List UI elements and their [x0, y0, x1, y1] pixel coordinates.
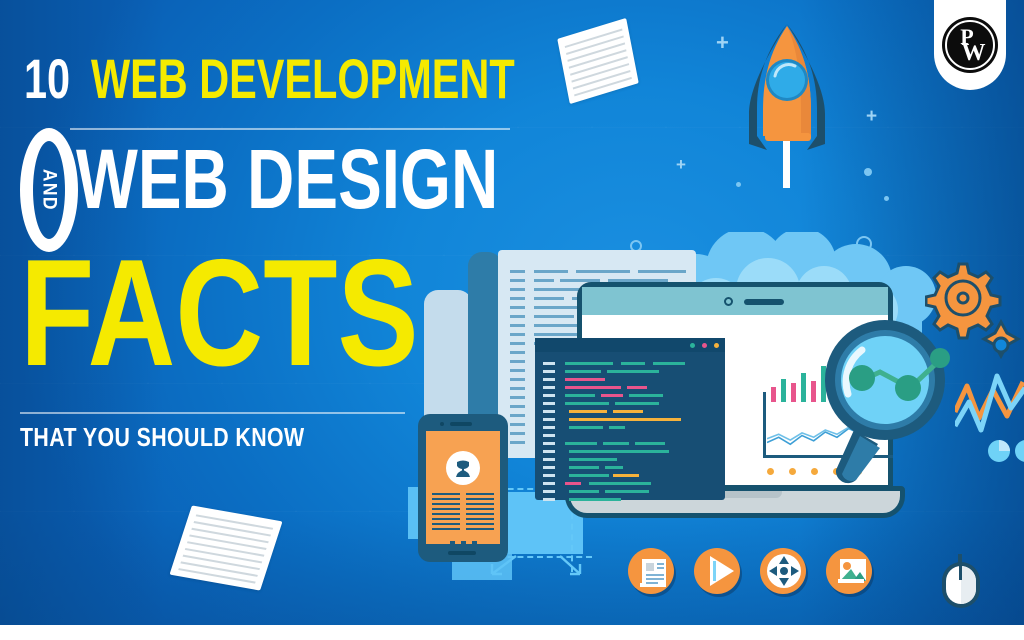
dot-decoration	[884, 196, 889, 201]
smartphone-device	[418, 414, 508, 562]
rocket-icon	[737, 18, 837, 188]
editor-code-segment	[565, 362, 613, 365]
headline-block: 10 WEB DEVELOPMENT	[24, 52, 544, 110]
editor-line-number	[543, 370, 555, 373]
editor-code-segment	[565, 402, 609, 405]
editor-line-number	[543, 410, 555, 413]
editor-line-number	[543, 386, 555, 389]
headline-subtitle: THAT YOU SHOULD KNOW	[20, 424, 305, 450]
phone-home-bar	[448, 551, 476, 555]
media-icon-row	[628, 548, 872, 594]
editor-line-number	[543, 378, 555, 381]
logo-ring: P W	[942, 17, 998, 73]
editor-line-number	[543, 466, 555, 469]
speaker-bar	[744, 299, 784, 305]
editor-code-segment	[569, 426, 603, 429]
avatar	[446, 451, 480, 485]
editor-code-segment	[605, 490, 649, 493]
editor-line-number	[543, 362, 555, 365]
editor-line-number	[543, 394, 555, 397]
editor-code-segment	[601, 394, 623, 397]
bottom-white-strip	[0, 625, 1024, 640]
editor-code-segment	[565, 394, 595, 397]
editor-code-segment	[607, 370, 659, 373]
editor-code-segment	[635, 442, 665, 445]
editor-code-segment	[627, 386, 647, 389]
traffic-light-pink[interactable]	[702, 343, 707, 348]
editor-code-segment	[565, 442, 597, 445]
traffic-light-green[interactable]	[690, 343, 695, 348]
gear-icons	[925, 258, 1024, 373]
infographic-canvas: + + +	[0, 0, 1024, 640]
editor-title-bar[interactable]	[535, 338, 725, 352]
mini-pie-charts	[988, 436, 1024, 466]
pw-badge-logo[interactable]: P W	[934, 0, 1006, 90]
editor-code-segment	[569, 466, 599, 469]
editor-code-segment	[565, 482, 581, 485]
webcam-icon	[724, 297, 733, 306]
chart-dot-marker	[811, 468, 818, 475]
headline-count: 10	[24, 52, 70, 106]
editor-line-number	[543, 482, 555, 485]
editor-code-segment	[613, 474, 639, 477]
editor-code-segment	[589, 482, 651, 485]
phone-speaker-bar	[450, 422, 472, 426]
document-icon[interactable]	[628, 548, 674, 594]
editor-line-number	[543, 450, 555, 453]
editor-line-number	[543, 498, 555, 501]
laptop-bezel	[582, 287, 888, 315]
editor-code-segment	[605, 466, 623, 469]
logo-monogram: P W	[955, 28, 986, 62]
plus-decoration: +	[716, 30, 729, 56]
editor-line-number	[543, 402, 555, 405]
editor-code-segment	[565, 370, 601, 373]
traffic-light-orange[interactable]	[714, 343, 719, 348]
editor-code-segment	[569, 450, 669, 453]
editor-code-segment	[653, 362, 685, 365]
editor-code-segment	[609, 426, 625, 429]
editor-code-segment	[569, 418, 681, 421]
chart-dot-marker	[767, 468, 774, 475]
editor-line-number	[543, 442, 555, 445]
editor-line-number	[543, 426, 555, 429]
chart-y-axis	[763, 392, 766, 458]
dot-decoration	[864, 168, 872, 176]
headline-divider-bottom	[20, 412, 405, 414]
logo-letter-w: W	[962, 45, 986, 62]
headline-divider-top	[70, 128, 510, 130]
headline-facts: FACTS	[20, 243, 419, 383]
plus-decoration: +	[866, 106, 877, 128]
settings-icon[interactable]	[760, 548, 806, 594]
editor-line-number	[543, 490, 555, 493]
headline-and-text: AND	[40, 169, 59, 211]
headline-web-design: WEB DESIGN	[76, 140, 498, 218]
editor-code-segment	[621, 362, 645, 365]
plus-decoration: +	[676, 155, 686, 175]
editor-line-number	[543, 434, 555, 437]
editor-code-segment	[603, 442, 629, 445]
computer-mouse-icon	[938, 552, 984, 610]
play-icon[interactable]	[694, 548, 740, 594]
editor-line-number	[543, 418, 555, 421]
image-icon[interactable]	[826, 548, 872, 594]
wireframe-arrow-icon	[556, 552, 586, 583]
chart-dot-marker	[789, 468, 796, 475]
editor-code-segment	[565, 378, 605, 381]
editor-code-segment	[613, 410, 643, 413]
editor-code-segment	[569, 498, 621, 501]
editor-code-segment	[569, 410, 607, 413]
editor-code-segment	[615, 402, 659, 405]
headline-web-development: WEB DEVELOPMENT	[91, 52, 515, 106]
editor-code-segment	[569, 458, 617, 461]
editor-code-segment	[569, 474, 609, 477]
code-editor-window[interactable]	[535, 338, 725, 500]
headline-line-1: 10 WEB DEVELOPMENT	[24, 52, 544, 110]
phone-screen	[426, 431, 500, 544]
phone-camera-dot	[440, 422, 444, 426]
editor-code-segment	[565, 386, 621, 389]
editor-code-segment	[629, 394, 663, 397]
editor-line-number	[543, 474, 555, 477]
editor-line-number	[543, 458, 555, 461]
editor-code-segment	[569, 490, 599, 493]
